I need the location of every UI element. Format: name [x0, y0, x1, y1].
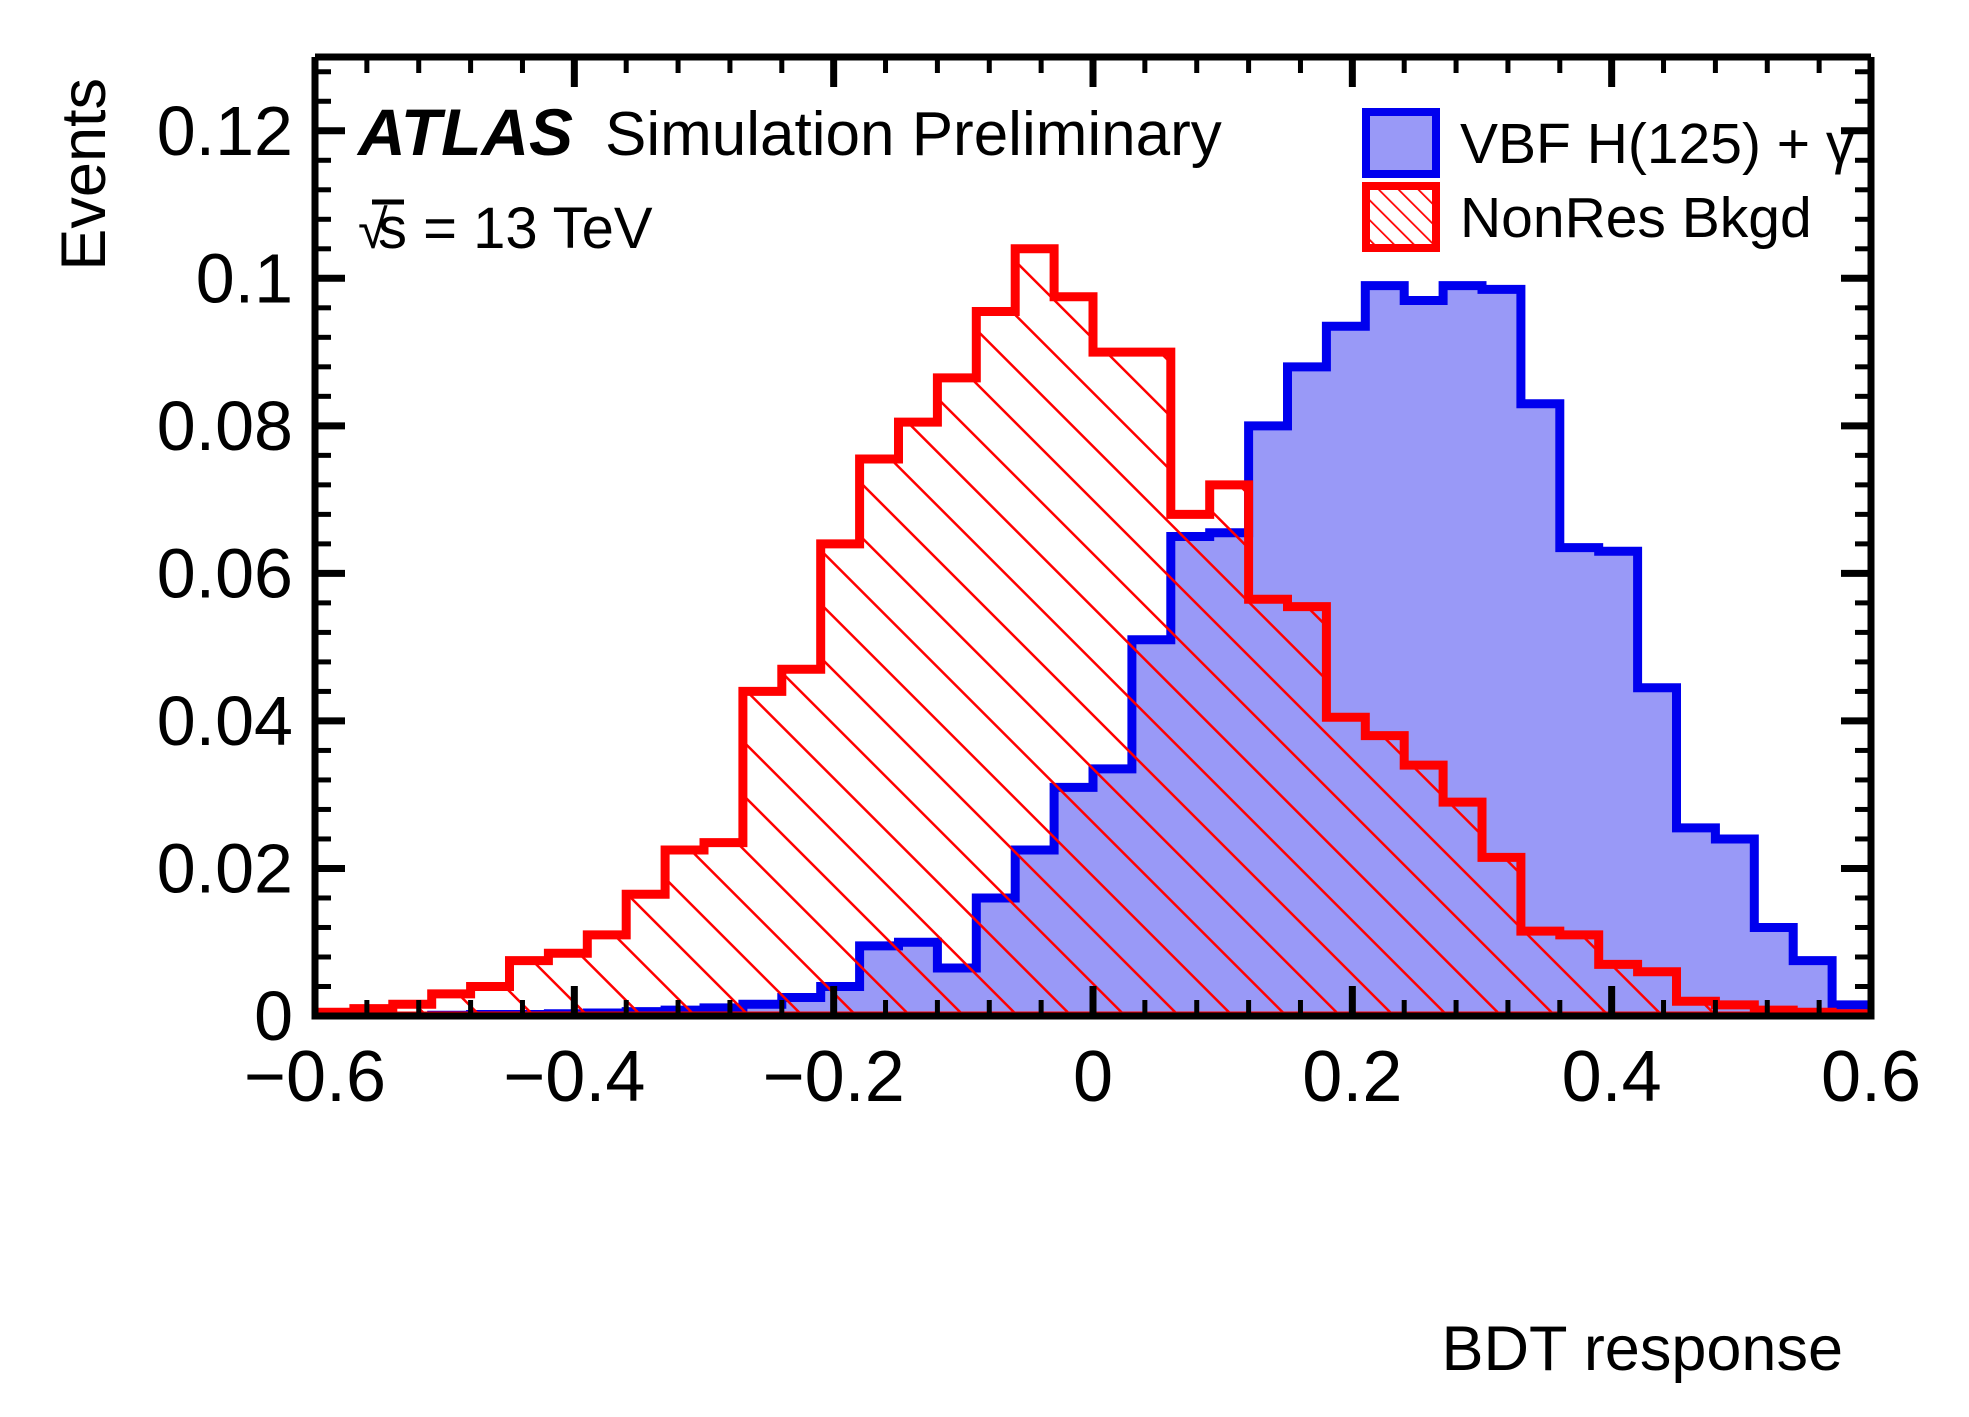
x-tick-label: −0.2: [763, 1037, 905, 1117]
x-tick-label: −0.4: [503, 1037, 645, 1117]
x-tick-label: 0.6: [1821, 1037, 1921, 1117]
y-tick-label: 0.12: [157, 92, 293, 170]
y-tick-label: 0.1: [196, 239, 293, 317]
y-tick-label: 0: [254, 977, 293, 1055]
legend-item-background[interactable]: NonRes Bkgd: [1366, 186, 1812, 250]
x-tick-label: 0.4: [1562, 1037, 1662, 1117]
x-tick-label: 0.2: [1302, 1037, 1402, 1117]
legend-swatch-background: [1366, 186, 1436, 248]
bdt-response-histogram: −0.6−0.4−0.200.20.40.600.020.040.060.080…: [0, 0, 1969, 1417]
legend-label-background: NonRes Bkgd: [1460, 186, 1812, 250]
y-axis-title: Events: [49, 78, 119, 271]
y-tick-label: 0.06: [157, 534, 293, 612]
y-tick-label: 0.04: [157, 682, 293, 760]
y-tick-label: 0.02: [157, 829, 293, 907]
atlas-label: ATLAS: [356, 95, 573, 169]
legend-item-signal[interactable]: VBF H(125) + γ: [1366, 112, 1855, 176]
legend-swatch-signal: [1366, 112, 1436, 174]
x-axis-title: BDT response: [1441, 1314, 1843, 1384]
energy-label: s = 13 TeV: [378, 196, 653, 261]
x-tick-label: 0: [1073, 1037, 1113, 1117]
legend-label-signal: VBF H(125) + γ: [1460, 112, 1855, 176]
atlas-status-label: Simulation Preliminary: [605, 100, 1222, 169]
chart-canvas: −0.6−0.4−0.200.20.40.600.020.040.060.080…: [0, 0, 1969, 1417]
y-tick-label: 0.08: [157, 387, 293, 465]
